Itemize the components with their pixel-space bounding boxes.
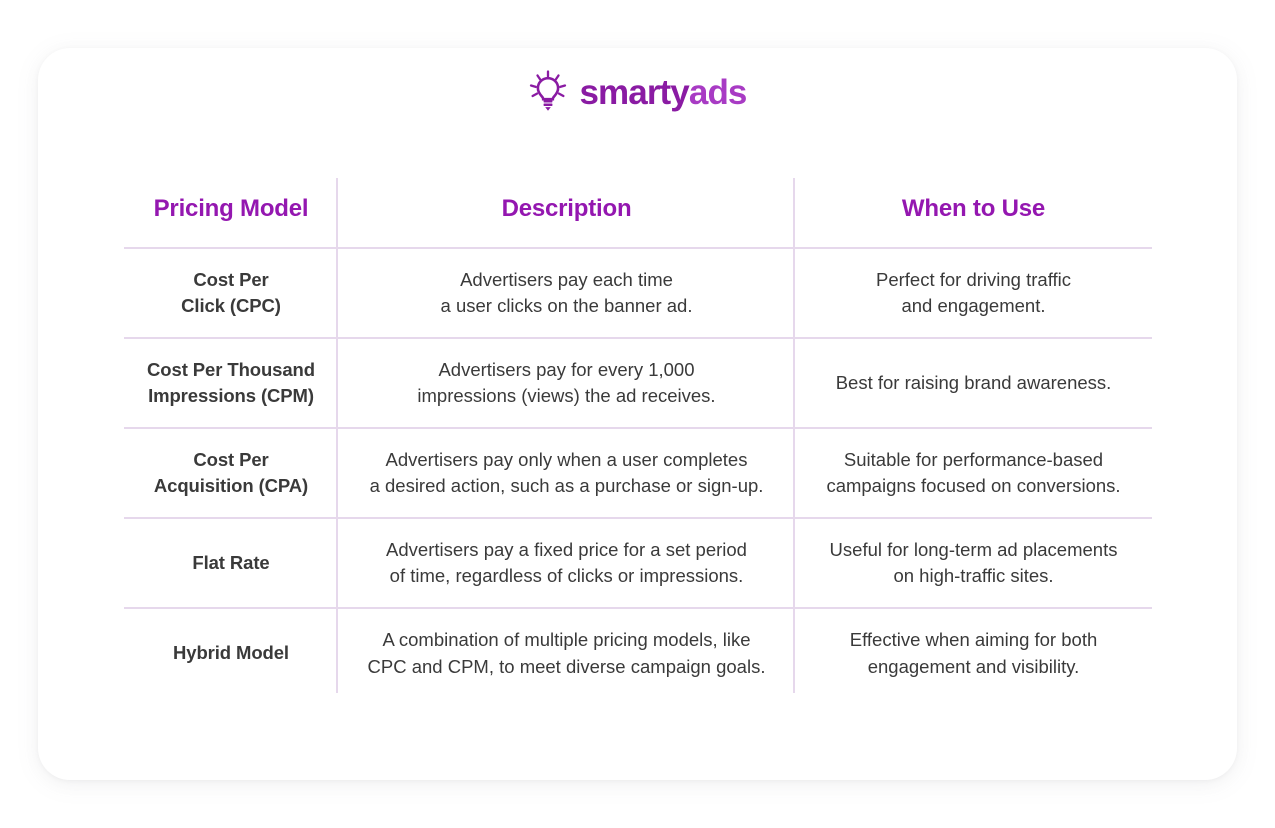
cell-description: A combination of multiple pricing models… — [338, 608, 795, 698]
table-row: Cost Per Click (CPC) Advertisers pay eac… — [124, 248, 1152, 338]
cell-text-line: Advertisers pay only when a user complet… — [346, 447, 787, 473]
cell-text-line: and engagement. — [803, 293, 1144, 319]
cell-when-to-use: Effective when aiming for both engagemen… — [795, 608, 1152, 698]
cell-pricing-model: Cost Per Thousand Impressions (CPM) — [124, 338, 338, 428]
cell-text-line: engagement and visibility. — [803, 654, 1144, 680]
cell-text-line: of time, regardless of clicks or impress… — [346, 563, 787, 589]
cell-description: Advertisers pay each time a user clicks … — [338, 248, 795, 338]
brand-wordmark-part-2: ads — [689, 73, 747, 112]
cell-when-to-use: Best for raising brand awareness. — [795, 338, 1152, 428]
table-header-row: Pricing Model Description When to Use — [124, 178, 1152, 248]
brand-logo: smartyads — [38, 72, 1237, 112]
cell-text-line: Effective when aiming for both — [803, 627, 1144, 653]
brand-wordmark: smartyads — [579, 75, 746, 110]
cell-when-to-use: Perfect for driving traffic and engageme… — [795, 248, 1152, 338]
cell-text-line: a desired action, such as a purchase or … — [346, 473, 787, 499]
cell-text-line: impressions (views) the ad receives. — [346, 383, 787, 409]
cell-text-line: A combination of multiple pricing models… — [346, 627, 787, 653]
cell-when-to-use: Useful for long-term ad placements on hi… — [795, 518, 1152, 608]
cell-text-line: Click (CPC) — [132, 293, 330, 319]
cell-text-line: Useful for long-term ad placements — [803, 537, 1144, 563]
cell-text-line: Best for raising brand awareness. — [803, 370, 1144, 396]
cell-pricing-model: Hybrid Model — [124, 608, 338, 698]
cell-text-line: Advertisers pay each time — [346, 267, 787, 293]
page-root: smartyads Pricing Model Description When… — [0, 0, 1275, 828]
cell-text-line: Acquisition (CPA) — [132, 473, 330, 499]
cell-text-line: Advertisers pay a fixed price for a set … — [346, 537, 787, 563]
content-card: smartyads Pricing Model Description When… — [38, 48, 1237, 780]
pricing-model-table: Pricing Model Description When to Use Co… — [124, 178, 1152, 698]
cell-text-line: Cost Per — [132, 267, 330, 293]
table-header: Pricing Model Description When to Use — [124, 178, 1152, 248]
cell-text-line: campaigns focused on conversions. — [803, 473, 1144, 499]
column-header-when-to-use: When to Use — [795, 178, 1152, 248]
pricing-table-container: Pricing Model Description When to Use Co… — [124, 178, 1152, 693]
column-divider-1 — [336, 178, 338, 693]
cell-text-line: on high-traffic sites. — [803, 563, 1144, 589]
cell-text-line: Cost Per — [132, 447, 330, 473]
column-header-description: Description — [338, 178, 795, 248]
cell-text-line: Impressions (CPM) — [132, 383, 330, 409]
column-header-pricing-model: Pricing Model — [124, 178, 338, 248]
cell-text-line: Flat Rate — [132, 550, 330, 576]
cell-text-line: Hybrid Model — [132, 640, 330, 666]
cell-pricing-model: Cost Per Click (CPC) — [124, 248, 338, 338]
table-row: Hybrid Model A combination of multiple p… — [124, 608, 1152, 698]
cell-text-line: Suitable for performance-based — [803, 447, 1144, 473]
lightbulb-icon — [528, 70, 568, 112]
cell-description: Advertisers pay only when a user complet… — [338, 428, 795, 518]
table-row: Cost Per Thousand Impressions (CPM) Adve… — [124, 338, 1152, 428]
cell-text-line: Advertisers pay for every 1,000 — [346, 357, 787, 383]
cell-pricing-model: Cost Per Acquisition (CPA) — [124, 428, 338, 518]
cell-pricing-model: Flat Rate — [124, 518, 338, 608]
cell-text-line: Perfect for driving traffic — [803, 267, 1144, 293]
cell-description: Advertisers pay for every 1,000 impressi… — [338, 338, 795, 428]
cell-text-line: CPC and CPM, to meet diverse campaign go… — [346, 654, 787, 680]
table-row: Flat Rate Advertisers pay a fixed price … — [124, 518, 1152, 608]
cell-description: Advertisers pay a fixed price for a set … — [338, 518, 795, 608]
cell-when-to-use: Suitable for performance-based campaigns… — [795, 428, 1152, 518]
brand-wordmark-part-1: smarty — [579, 73, 688, 112]
cell-text-line: Cost Per Thousand — [132, 357, 330, 383]
table-row: Cost Per Acquisition (CPA) Advertisers p… — [124, 428, 1152, 518]
cell-text-line: a user clicks on the banner ad. — [346, 293, 787, 319]
column-divider-2 — [793, 178, 795, 693]
table-body: Cost Per Click (CPC) Advertisers pay eac… — [124, 248, 1152, 698]
